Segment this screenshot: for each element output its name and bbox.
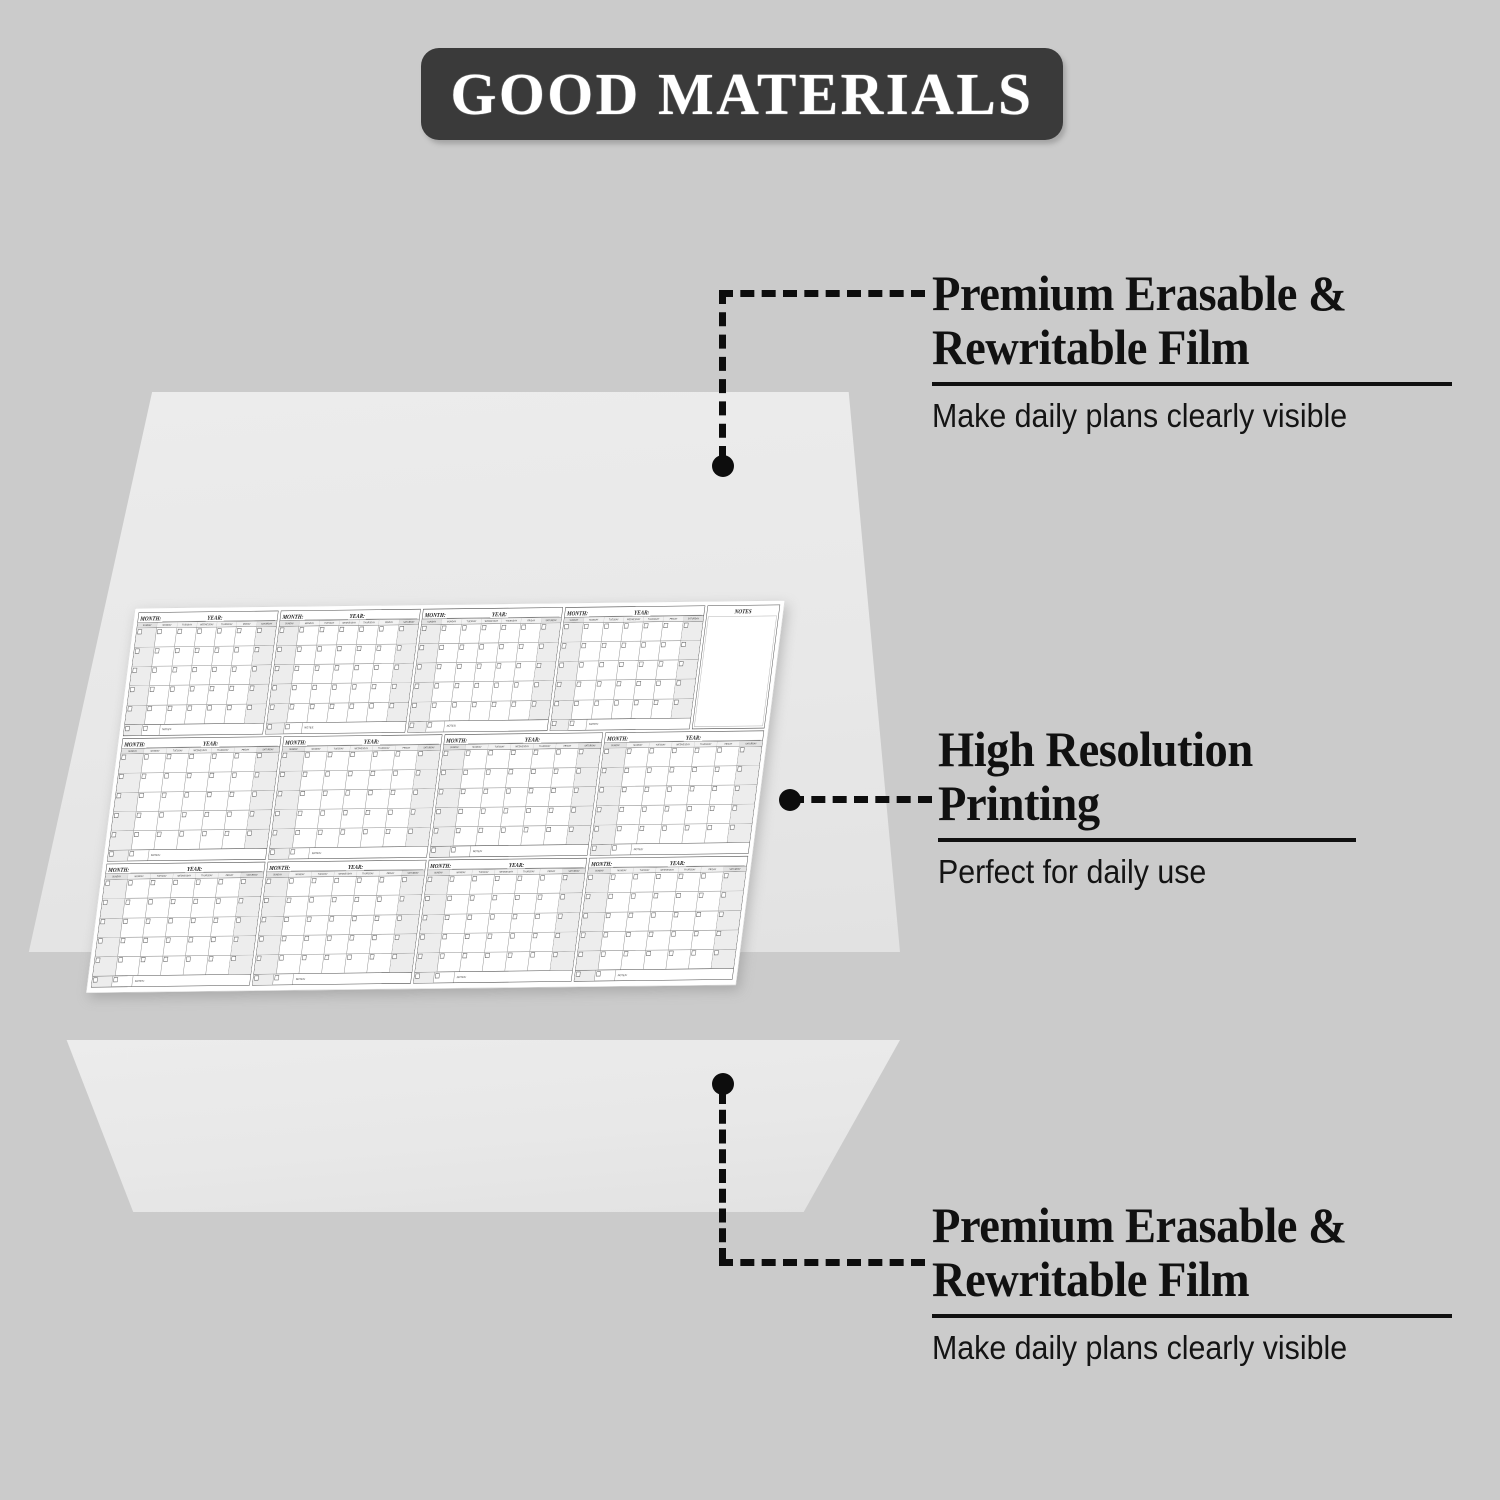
day-cell[interactable] <box>414 663 436 682</box>
month-notes-strip[interactable]: NOTES: <box>91 974 250 987</box>
day-cell[interactable] <box>437 644 459 663</box>
day-cell[interactable] <box>644 767 669 786</box>
day-cell[interactable] <box>389 683 411 702</box>
day-cell[interactable] <box>302 752 327 771</box>
day-cell[interactable] <box>397 895 422 914</box>
day-cell[interactable] <box>513 894 538 913</box>
day-cell[interactable] <box>372 915 397 934</box>
day-cell[interactable] <box>441 750 466 769</box>
day-cell[interactable] <box>184 772 209 791</box>
day-cell[interactable] <box>159 792 184 811</box>
day-cell[interactable] <box>608 873 633 892</box>
day-cell[interactable] <box>161 956 186 975</box>
notes-strip-cell[interactable] <box>107 850 129 861</box>
day-cell[interactable] <box>639 641 661 660</box>
day-cell[interactable] <box>377 625 399 644</box>
day-cell[interactable] <box>419 625 441 644</box>
month-notes-strip[interactable]: NOTES: <box>550 718 690 731</box>
day-cell[interactable] <box>275 790 300 809</box>
day-cell[interactable] <box>583 893 608 912</box>
day-cell[interactable] <box>504 788 529 807</box>
day-cell[interactable] <box>119 754 144 773</box>
day-cell[interactable] <box>433 808 458 827</box>
day-cell[interactable] <box>141 754 166 773</box>
day-cell[interactable] <box>267 704 289 723</box>
month-notes-strip[interactable]: NOTES: <box>107 848 266 861</box>
day-cell[interactable] <box>136 792 161 811</box>
day-cell[interactable] <box>559 642 581 661</box>
notes-strip-cell[interactable] <box>112 976 134 987</box>
day-cell[interactable] <box>332 664 354 683</box>
day-cell[interactable] <box>594 806 619 825</box>
day-cell[interactable] <box>660 824 685 843</box>
day-cell[interactable] <box>254 627 276 646</box>
day-cell[interactable] <box>385 808 410 827</box>
day-cell[interactable] <box>646 931 671 950</box>
day-cell[interactable] <box>509 701 531 720</box>
day-cell[interactable] <box>224 810 249 829</box>
day-cell[interactable] <box>417 644 439 663</box>
day-cell[interactable] <box>387 702 409 721</box>
day-cell[interactable] <box>103 880 128 899</box>
day-cell[interactable] <box>689 950 714 969</box>
day-cell[interactable] <box>172 647 194 666</box>
day-cell[interactable] <box>369 934 394 953</box>
day-cell[interactable] <box>711 949 736 968</box>
day-cell[interactable] <box>553 932 578 951</box>
day-cell[interactable] <box>297 790 322 809</box>
day-cell[interactable] <box>488 913 513 932</box>
day-cell[interactable] <box>550 951 575 970</box>
day-cell[interactable] <box>531 681 553 700</box>
day-cell[interactable] <box>555 913 580 932</box>
day-cell[interactable] <box>93 957 118 976</box>
day-cell[interactable] <box>192 647 214 666</box>
day-cell[interactable] <box>534 662 556 681</box>
day-cell[interactable] <box>624 748 649 767</box>
day-cell[interactable] <box>115 957 140 976</box>
day-cell[interactable] <box>639 805 664 824</box>
day-cell[interactable] <box>229 772 254 791</box>
day-cell[interactable] <box>664 786 689 805</box>
day-cell[interactable] <box>699 872 724 891</box>
day-cell[interactable] <box>667 766 692 785</box>
day-cell[interactable] <box>485 933 510 952</box>
day-cell[interactable] <box>671 911 696 930</box>
notes-strip-cell[interactable] <box>595 970 617 981</box>
day-cell[interactable] <box>275 646 297 665</box>
day-cell[interactable] <box>252 646 274 665</box>
day-cell[interactable] <box>552 700 574 719</box>
day-cell[interactable] <box>299 954 324 973</box>
day-cell[interactable] <box>292 829 317 848</box>
day-cell[interactable] <box>256 936 281 955</box>
day-cell[interactable] <box>95 938 120 957</box>
day-cell[interactable] <box>145 705 167 724</box>
day-cell[interactable] <box>399 876 424 895</box>
day-cell[interactable] <box>138 956 163 975</box>
day-cell[interactable] <box>209 753 234 772</box>
day-cell[interactable] <box>135 628 157 647</box>
day-cell[interactable] <box>533 913 558 932</box>
month-notes-strip[interactable]: NOTES: <box>429 844 588 857</box>
day-cell[interactable] <box>491 682 513 701</box>
day-cell[interactable] <box>715 747 740 766</box>
day-cell[interactable] <box>204 791 229 810</box>
month-notes-strip[interactable]: NOTES: <box>123 723 263 736</box>
day-cell[interactable] <box>409 702 431 721</box>
notes-strip-cell[interactable] <box>128 850 150 861</box>
day-cell[interactable] <box>148 879 173 898</box>
day-cell[interactable] <box>327 703 349 722</box>
day-cell[interactable] <box>392 934 417 953</box>
day-cell[interactable] <box>287 703 309 722</box>
day-cell[interactable] <box>389 953 414 972</box>
day-cell[interactable] <box>616 661 638 680</box>
day-cell[interactable] <box>349 683 371 702</box>
day-cell[interactable] <box>347 751 372 770</box>
day-cell[interactable] <box>442 914 467 933</box>
day-cell[interactable] <box>539 623 561 642</box>
day-cell[interactable] <box>561 623 583 642</box>
notes-strip-cell[interactable] <box>450 846 472 857</box>
day-cell[interactable] <box>469 701 491 720</box>
day-cell[interactable] <box>213 898 238 917</box>
day-cell[interactable] <box>280 752 305 771</box>
day-cell[interactable] <box>535 894 560 913</box>
day-cell[interactable] <box>131 831 156 850</box>
day-cell[interactable] <box>581 623 603 642</box>
notes-strip-cell[interactable] <box>426 721 445 732</box>
day-cell[interactable] <box>209 666 231 685</box>
day-cell[interactable] <box>141 937 166 956</box>
day-cell[interactable] <box>222 830 247 849</box>
day-cell[interactable] <box>434 663 456 682</box>
day-cell[interactable] <box>614 680 636 699</box>
day-cell[interactable] <box>654 680 676 699</box>
day-cell[interactable] <box>425 876 450 895</box>
month-notes-strip[interactable]: NOTES: <box>574 968 733 981</box>
day-cell[interactable] <box>489 701 511 720</box>
notes-strip-cell[interactable] <box>266 723 285 734</box>
day-cell[interactable] <box>412 683 434 702</box>
day-cell[interactable] <box>393 750 418 769</box>
day-cell[interactable] <box>187 685 209 704</box>
day-cell[interactable] <box>653 873 678 892</box>
day-cell[interactable] <box>279 935 304 954</box>
day-cell[interactable] <box>716 911 741 930</box>
day-cell[interactable] <box>636 661 658 680</box>
day-cell[interactable] <box>617 806 642 825</box>
day-cell[interactable] <box>388 789 413 808</box>
day-cell[interactable] <box>576 951 601 970</box>
day-cell[interactable] <box>634 680 656 699</box>
day-cell[interactable] <box>447 875 472 894</box>
day-cell[interactable] <box>431 827 456 846</box>
day-cell[interactable] <box>322 954 347 973</box>
day-cell[interactable] <box>374 896 399 915</box>
day-cell[interactable] <box>300 771 325 790</box>
notes-strip-cell[interactable] <box>611 844 633 855</box>
day-cell[interactable] <box>458 788 483 807</box>
day-cell[interactable] <box>456 808 481 827</box>
day-cell[interactable] <box>571 787 596 806</box>
day-cell[interactable] <box>168 898 193 917</box>
day-cell[interactable] <box>637 825 662 844</box>
day-cell[interactable] <box>360 828 385 847</box>
day-cell[interactable] <box>127 686 149 705</box>
day-cell[interactable] <box>467 894 492 913</box>
day-cell[interactable] <box>125 879 150 898</box>
day-cell[interactable] <box>152 647 174 666</box>
day-cell[interactable] <box>730 804 755 823</box>
day-cell[interactable] <box>692 747 717 766</box>
day-cell[interactable] <box>354 645 376 664</box>
day-cell[interactable] <box>114 792 139 811</box>
day-cell[interactable] <box>164 753 189 772</box>
day-cell[interactable] <box>476 643 498 662</box>
day-cell[interactable] <box>622 767 647 786</box>
notes-strip-cell[interactable] <box>550 720 569 731</box>
day-cell[interactable] <box>415 750 440 769</box>
day-cell[interactable] <box>111 812 136 831</box>
day-cell[interactable] <box>598 951 623 970</box>
notes-panel-body[interactable] <box>694 616 777 727</box>
day-cell[interactable] <box>651 699 673 718</box>
day-cell[interactable] <box>187 753 212 772</box>
day-cell[interactable] <box>125 705 147 724</box>
day-cell[interactable] <box>614 825 639 844</box>
day-cell[interactable] <box>344 954 369 973</box>
day-cell[interactable] <box>601 931 626 950</box>
day-cell[interactable] <box>732 785 757 804</box>
day-cell[interactable] <box>167 686 189 705</box>
day-cell[interactable] <box>592 825 617 844</box>
day-cell[interactable] <box>309 877 334 896</box>
day-cell[interactable] <box>252 771 277 790</box>
day-cell[interactable] <box>270 684 292 703</box>
notes-strip-cell[interactable] <box>568 719 587 730</box>
day-cell[interactable] <box>98 918 123 937</box>
day-cell[interactable] <box>594 680 616 699</box>
day-cell[interactable] <box>182 792 207 811</box>
day-cell[interactable] <box>297 626 319 645</box>
day-cell[interactable] <box>505 952 530 971</box>
day-cell[interactable] <box>369 683 391 702</box>
day-cell[interactable] <box>521 826 546 845</box>
day-cell[interactable] <box>130 667 152 686</box>
day-cell[interactable] <box>483 769 508 788</box>
day-cell[interactable] <box>476 827 501 846</box>
day-cell[interactable] <box>270 829 295 848</box>
day-cell[interactable] <box>349 915 374 934</box>
day-cell[interactable] <box>682 824 707 843</box>
day-cell[interactable] <box>486 749 511 768</box>
day-cell[interactable] <box>324 935 349 954</box>
notes-strip-cell[interactable] <box>123 725 142 736</box>
day-cell[interactable] <box>422 895 447 914</box>
day-cell[interactable] <box>438 769 463 788</box>
day-cell[interactable] <box>619 786 644 805</box>
day-cell[interactable] <box>452 682 474 701</box>
day-cell[interactable] <box>207 772 232 791</box>
notes-strip-cell[interactable] <box>141 724 160 735</box>
day-cell[interactable] <box>185 705 207 724</box>
notes-panel[interactable]: NOTES <box>692 605 780 729</box>
day-cell[interactable] <box>621 622 643 641</box>
day-cell[interactable] <box>524 807 549 826</box>
day-cell[interactable] <box>499 826 524 845</box>
day-cell[interactable] <box>227 685 249 704</box>
day-cell[interactable] <box>322 771 347 790</box>
day-cell[interactable] <box>506 768 531 787</box>
notes-strip-cell[interactable] <box>273 974 295 985</box>
day-cell[interactable] <box>294 645 316 664</box>
day-cell[interactable] <box>436 789 461 808</box>
day-cell[interactable] <box>306 896 331 915</box>
day-cell[interactable] <box>499 624 521 643</box>
day-cell[interactable] <box>445 895 470 914</box>
day-cell[interactable] <box>690 766 715 785</box>
day-cell[interactable] <box>372 664 394 683</box>
day-cell[interactable] <box>166 917 191 936</box>
day-cell[interactable] <box>578 932 603 951</box>
day-cell[interactable] <box>554 681 576 700</box>
day-cell[interactable] <box>327 915 352 934</box>
day-cell[interactable] <box>259 916 284 935</box>
month-notes-strip[interactable]: NOTES: <box>590 842 749 855</box>
day-cell[interactable] <box>370 751 395 770</box>
day-cell[interactable] <box>249 665 271 684</box>
day-cell[interactable] <box>277 626 299 645</box>
day-cell[interactable] <box>530 932 555 951</box>
day-cell[interactable] <box>394 644 416 663</box>
day-cell[interactable] <box>599 767 624 786</box>
day-cell[interactable] <box>374 644 396 663</box>
day-cell[interactable] <box>238 878 263 897</box>
day-cell[interactable] <box>669 747 694 766</box>
day-cell[interactable] <box>367 702 389 721</box>
day-cell[interactable] <box>413 770 438 789</box>
day-cell[interactable] <box>154 831 179 850</box>
day-cell[interactable] <box>317 809 342 828</box>
day-cell[interactable] <box>394 915 419 934</box>
day-cell[interactable] <box>109 831 134 850</box>
day-cell[interactable] <box>354 877 379 896</box>
day-cell[interactable] <box>528 952 553 971</box>
day-cell[interactable] <box>644 950 669 969</box>
day-cell[interactable] <box>347 703 369 722</box>
day-cell[interactable] <box>687 786 712 805</box>
day-cell[interactable] <box>514 662 536 681</box>
day-cell[interactable] <box>472 682 494 701</box>
day-cell[interactable] <box>531 749 556 768</box>
day-cell[interactable] <box>232 646 254 665</box>
day-cell[interactable] <box>290 684 312 703</box>
day-cell[interactable] <box>496 643 518 662</box>
day-cell[interactable] <box>261 897 286 916</box>
day-cell[interactable] <box>648 912 673 931</box>
day-cell[interactable] <box>463 750 488 769</box>
day-cell[interactable] <box>244 704 266 723</box>
day-cell[interactable] <box>529 700 551 719</box>
day-cell[interactable] <box>511 681 533 700</box>
day-cell[interactable] <box>623 931 648 950</box>
day-cell[interactable] <box>247 810 272 829</box>
day-cell[interactable] <box>216 878 241 897</box>
day-cell[interactable] <box>383 828 408 847</box>
day-cell[interactable] <box>737 746 762 765</box>
day-cell[interactable] <box>202 811 227 830</box>
day-cell[interactable] <box>579 642 601 661</box>
day-cell[interactable] <box>254 955 279 974</box>
day-cell[interactable] <box>281 916 306 935</box>
day-cell[interactable] <box>420 914 445 933</box>
day-cell[interactable] <box>211 917 236 936</box>
day-cell[interactable] <box>516 643 538 662</box>
day-cell[interactable] <box>392 664 414 683</box>
day-cell[interactable] <box>510 913 535 932</box>
day-cell[interactable] <box>179 811 204 830</box>
day-cell[interactable] <box>453 827 478 846</box>
day-cell[interactable] <box>529 768 554 787</box>
day-cell[interactable] <box>193 878 218 897</box>
day-cell[interactable] <box>641 622 663 641</box>
day-cell[interactable] <box>415 953 440 972</box>
day-cell[interactable] <box>272 810 297 829</box>
day-cell[interactable] <box>569 806 594 825</box>
day-cell[interactable] <box>183 956 208 975</box>
day-cell[interactable] <box>224 704 246 723</box>
notes-strip-cell[interactable] <box>590 845 612 856</box>
day-cell[interactable] <box>363 809 388 828</box>
day-cell[interactable] <box>157 811 182 830</box>
day-cell[interactable] <box>470 875 495 894</box>
day-cell[interactable] <box>207 685 229 704</box>
day-cell[interactable] <box>228 955 253 974</box>
day-cell[interactable] <box>314 645 336 664</box>
day-cell[interactable] <box>659 641 681 660</box>
day-cell[interactable] <box>229 666 251 685</box>
day-cell[interactable] <box>338 828 363 847</box>
day-cell[interactable] <box>405 828 430 847</box>
day-cell[interactable] <box>191 898 216 917</box>
day-cell[interactable] <box>557 662 579 681</box>
day-cell[interactable] <box>586 874 611 893</box>
day-cell[interactable] <box>494 662 516 681</box>
day-cell[interactable] <box>150 666 172 685</box>
day-cell[interactable] <box>307 703 329 722</box>
day-cell[interactable] <box>132 647 154 666</box>
day-cell[interactable] <box>681 621 703 640</box>
day-cell[interactable] <box>647 747 672 766</box>
day-cell[interactable] <box>566 826 591 845</box>
notes-strip-cell[interactable] <box>252 974 274 985</box>
day-cell[interactable] <box>662 805 687 824</box>
day-cell[interactable] <box>439 624 461 643</box>
day-cell[interactable] <box>368 770 393 789</box>
day-cell[interactable] <box>631 699 653 718</box>
day-cell[interactable] <box>474 663 496 682</box>
day-cell[interactable] <box>481 788 506 807</box>
day-cell[interactable] <box>337 626 359 645</box>
day-cell[interactable] <box>163 937 188 956</box>
day-cell[interactable] <box>735 766 760 785</box>
day-cell[interactable] <box>329 684 351 703</box>
day-cell[interactable] <box>118 937 143 956</box>
day-cell[interactable] <box>546 807 571 826</box>
day-cell[interactable] <box>678 641 700 660</box>
